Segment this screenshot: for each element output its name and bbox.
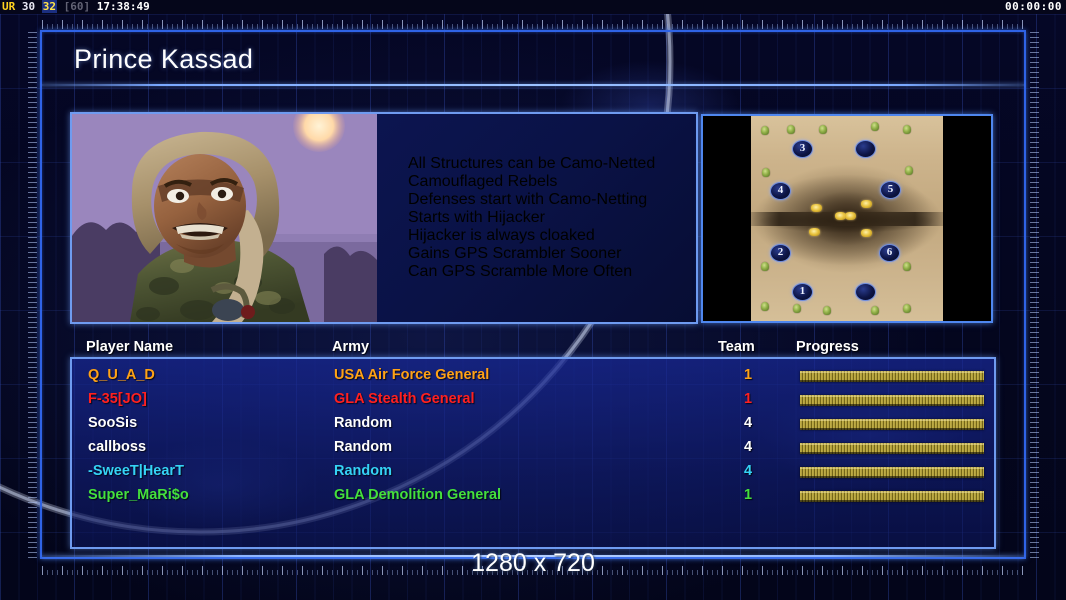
title-divider [42, 84, 1024, 86]
player-name-cell: F-35[JO] [88, 391, 147, 407]
map-tree-icon [903, 125, 911, 134]
status-value2: 32 [42, 0, 57, 13]
ability-line: Gains GPS Scrambler Sooner [408, 245, 655, 263]
player-team-cell[interactable]: 1 [738, 487, 758, 503]
map-tree-icon [787, 125, 795, 134]
player-progress-bar [800, 419, 984, 430]
player-progress-bar [800, 467, 984, 478]
map-tree-icon [903, 262, 911, 271]
ability-line: Hijacker is always cloaked [408, 227, 655, 245]
table-row[interactable]: F-35[JO]GLA Stealth General1 [72, 389, 994, 413]
player-team-cell[interactable]: 4 [738, 439, 758, 455]
map-tree-icon [761, 126, 769, 135]
status-timer: 00:00:00 [1005, 0, 1062, 14]
player-team-cell[interactable]: 1 [738, 367, 758, 383]
player-army-cell[interactable]: Random [334, 463, 392, 479]
ruler-right [1030, 32, 1039, 562]
table-row[interactable]: Super_MaRi$oGLA Demolition General1 [72, 485, 994, 509]
table-row[interactable]: Q_U_A_DUSA Air Force General1 [72, 365, 994, 389]
map-start-position[interactable]: 2 [770, 244, 791, 262]
player-progress-bar [800, 491, 984, 502]
ability-line: Starts with Hijacker [408, 209, 655, 227]
ruler-left [28, 32, 37, 562]
map-tree-icon [871, 122, 879, 131]
table-row[interactable]: SooSisRandom4 [72, 413, 994, 437]
map-tree-icon [762, 168, 770, 177]
status-value1: 30 [22, 0, 35, 13]
player-progress-bar [800, 371, 984, 382]
map-start-position[interactable]: 3 [792, 140, 813, 158]
status-tag: UR [2, 0, 15, 13]
table-row[interactable]: -SweeT|HearTRandom4 [72, 461, 994, 485]
map-start-position[interactable]: 6 [879, 244, 900, 262]
map-tree-icon [761, 302, 769, 311]
player-name-cell: Q_U_A_D [88, 367, 155, 383]
player-name-cell: -SweeT|HearT [88, 463, 184, 479]
map-start-position[interactable] [855, 283, 876, 301]
map-tree-icon [793, 304, 801, 313]
column-header-army: Army [332, 339, 369, 355]
map-start-position[interactable] [855, 140, 876, 158]
player-army-cell[interactable]: GLA Stealth General [334, 391, 474, 407]
map-resource-icon [861, 229, 872, 237]
resolution-label: 1280 x 720 [0, 549, 1066, 578]
player-team-cell[interactable]: 1 [738, 391, 758, 407]
general-abilities-list: All Structures can be Camo-Netted Camouf… [408, 155, 655, 281]
ability-line: Defenses start with Camo-Netting [408, 191, 655, 209]
map-start-position[interactable]: 4 [770, 182, 791, 200]
column-header-team: Team [718, 339, 755, 355]
player-name-cell: SooSis [88, 415, 137, 431]
column-header-progress: Progress [796, 339, 859, 355]
map-tree-icon [819, 125, 827, 134]
ruler-top [42, 20, 1024, 29]
status-left-group: UR 30 32 [60] 17:38:49 [2, 0, 150, 14]
map-resource-icon [811, 204, 822, 212]
status-clock: 17:38:49 [97, 0, 150, 13]
map-resource-icon [845, 212, 856, 220]
map-preview-image[interactable]: 345261 [751, 116, 943, 321]
general-portrait [72, 114, 377, 322]
map-preview-frame: 345261 [701, 114, 993, 323]
player-team-cell[interactable]: 4 [738, 463, 758, 479]
table-row[interactable]: callbossRandom4 [72, 437, 994, 461]
map-start-position[interactable]: 1 [792, 283, 813, 301]
player-progress-bar [800, 395, 984, 406]
overlay-status-bar: UR 30 32 [60] 17:38:49 00:00:00 [0, 0, 1066, 14]
map-tree-icon [761, 262, 769, 271]
player-army-cell[interactable]: Random [334, 415, 392, 431]
player-army-cell[interactable]: GLA Demolition General [334, 487, 501, 503]
column-header-player-name: Player Name [86, 339, 173, 355]
ability-line: All Structures can be Camo-Netted [408, 155, 655, 173]
ability-line: Can GPS Scramble More Often [408, 263, 655, 281]
page-title: Prince Kassad [74, 44, 253, 75]
game-lobby-screen: UR 30 32 [60] 17:38:49 00:00:00 Prince K… [0, 0, 1066, 600]
map-resource-icon [809, 228, 820, 236]
map-start-position[interactable]: 5 [880, 181, 901, 199]
player-army-cell[interactable]: USA Air Force General [334, 367, 489, 383]
player-list-panel: Q_U_A_DUSA Air Force General1F-35[JO]GLA… [70, 357, 996, 549]
status-value3: [60] [64, 0, 91, 13]
player-name-cell: callboss [88, 439, 146, 455]
ability-line: Camouflaged Rebels [408, 173, 655, 191]
map-tree-icon [871, 306, 879, 315]
player-name-cell: Super_MaRi$o [88, 487, 189, 503]
player-progress-bar [800, 443, 984, 454]
player-team-cell[interactable]: 4 [738, 415, 758, 431]
player-army-cell[interactable]: Random [334, 439, 392, 455]
map-tree-icon [823, 306, 831, 315]
map-resource-icon [861, 200, 872, 208]
map-tree-icon [905, 166, 913, 175]
map-tree-icon [903, 304, 911, 313]
table-header-row: Player Name Army Team Progress [0, 339, 1066, 359]
